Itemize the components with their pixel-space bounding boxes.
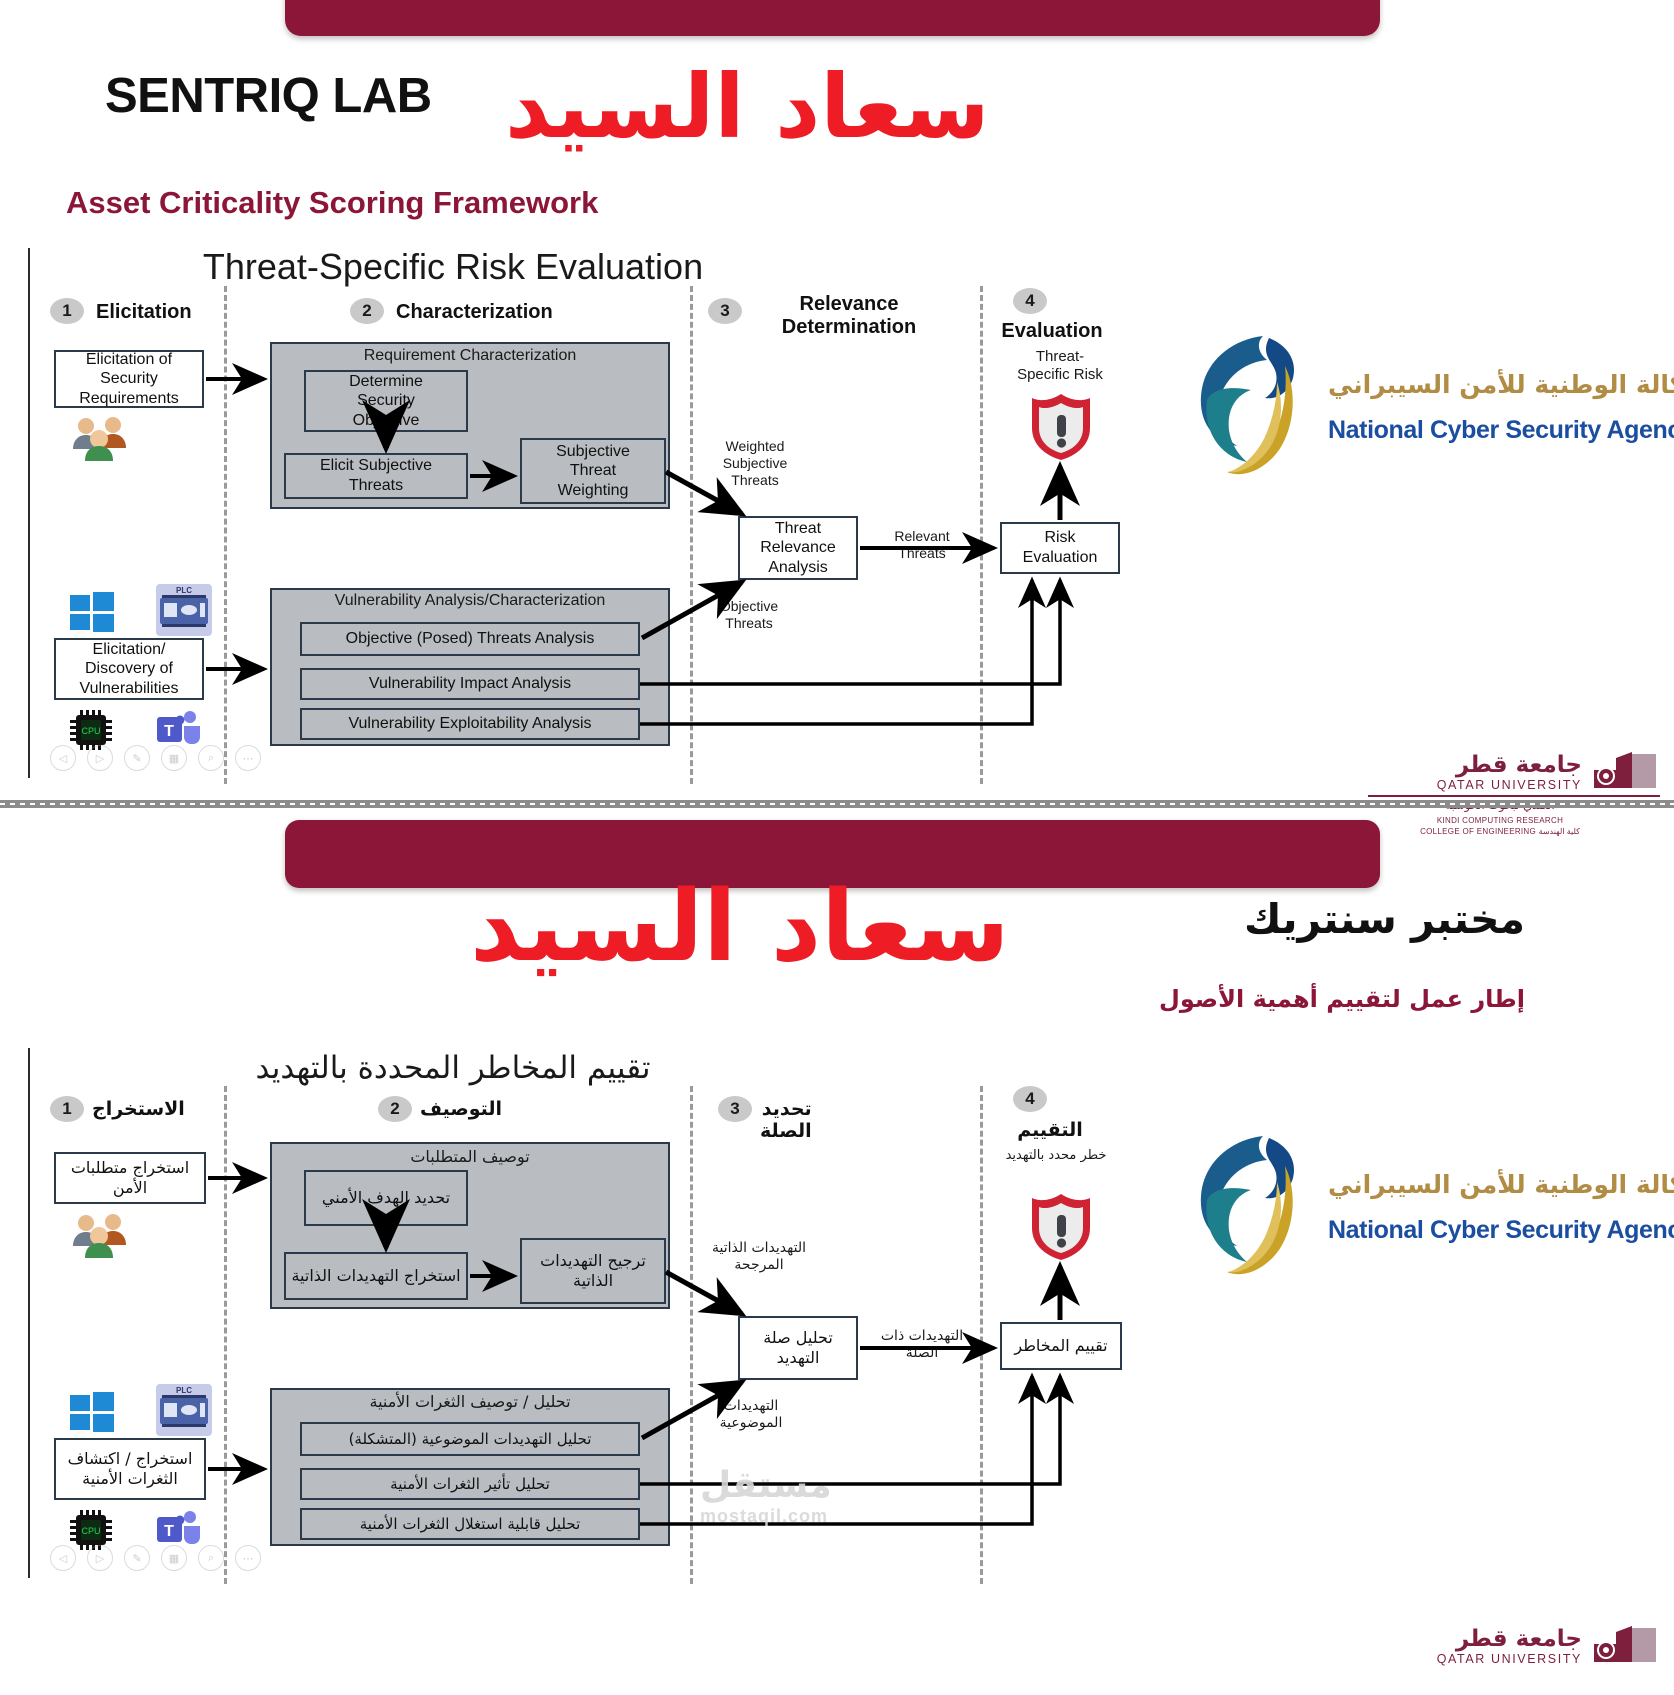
diagram-title-en: Threat-Specific Risk Evaluation (0, 246, 1048, 288)
stage-number-ar-2: 2 (378, 1096, 412, 1122)
edge-label-ar-relevant-threats: التهديدات ذات الصلة (874, 1328, 970, 1362)
ncsa-english-name-bottom: National Cyber Security Agency (1328, 1216, 1674, 1245)
play-icon[interactable]: ▷ (87, 745, 113, 771)
box-determine-security-objective[interactable]: Determine Security Objective (304, 370, 468, 432)
box-ar-objective-posed-threats-analysis[interactable]: تحليل التهديدات الموضوعية (المتشكلة) (300, 1422, 640, 1456)
top-banner (285, 0, 1380, 36)
group-title-requirement-characterization: Requirement Characterization (270, 347, 670, 365)
qu-arabic-name: جامعة قطر (1456, 752, 1582, 778)
slide-playbar[interactable]: ◁ ▷ ✎ ▦ ⌕ ⋯ (50, 745, 261, 771)
box-ar-determine-security-objective[interactable]: تحديد الهدف الأمني (304, 1170, 468, 1226)
play-icon-ar[interactable]: ▷ (87, 1545, 113, 1571)
edge-label-ar-objective-threats: التهديدات الموضوعية (696, 1398, 806, 1432)
qu-divider (1368, 795, 1660, 797)
qatar-university-logo-top: جامعة قطر QATAR UNIVERSITY الكندي لبحوث … (1340, 748, 1660, 824)
ncsa-arabic-name: الوكالة الوطنية للأمن السيبراني (1328, 370, 1674, 399)
box-ar-subjective-threat-weighting[interactable]: ترجيح التهديدات الذاتية (520, 1238, 666, 1304)
ncsa-falcon-icon-bottom (1185, 1130, 1315, 1280)
column-separator-ar-1 (224, 1086, 227, 1584)
box-ar-threat-relevance-analysis[interactable]: تحليل صلة التهديد (738, 1316, 858, 1380)
svg-text:T: T (164, 1523, 174, 1540)
bottom-banner (285, 820, 1380, 888)
column-separator-1 (224, 286, 227, 784)
risk-shield-icon (1028, 392, 1094, 467)
diagram-title-ar: تقييم المخاطر المحددة بالتهديد (0, 1050, 1048, 1086)
framework-title-en: Asset Criticality Scoring Framework (66, 185, 598, 221)
plc-icon-ar: PLC (156, 1384, 212, 1436)
stage-number-2: 2 (350, 298, 384, 324)
stage-number-4: 4 (1013, 288, 1047, 314)
windows-icon (70, 592, 114, 632)
qu-sub-college-engineering: COLLEGE OF ENGINEERING كلية الهندسة (1340, 827, 1660, 836)
windows-icon-ar (70, 1392, 114, 1432)
box-ar-risk-evaluation[interactable]: تقييم المخاطر (1000, 1322, 1122, 1370)
box-subjective-threat-weighting[interactable]: Subjective Threat Weighting (520, 438, 666, 504)
zoom-icon-ar[interactable]: ⌕ (198, 1545, 224, 1571)
group-title-vulnerability-analysis: Vulnerability Analysis/Characterization (270, 592, 670, 610)
stage-number-ar-4: 4 (1013, 1086, 1047, 1112)
qatar-university-logo-bottom: جامعة قطر QATAR UNIVERSITY (1340, 1622, 1660, 1695)
column-separator-ar-2 (690, 1086, 693, 1584)
people-icon (68, 415, 140, 466)
qu-english-name: QATAR UNIVERSITY (1437, 778, 1582, 792)
box-risk-evaluation[interactable]: Risk Evaluation (1000, 522, 1120, 574)
stage-label-3: Relevance Determination (754, 293, 944, 339)
stage-number-3: 3 (708, 298, 742, 324)
stage-label-4: Evaluation (987, 320, 1117, 343)
box-objective-posed-threats-analysis[interactable]: Objective (Posed) Threats Analysis (300, 622, 640, 656)
box-vulnerability-exploitability-analysis[interactable]: Vulnerability Exploitability Analysis (300, 708, 640, 740)
box-ar-elicit-subjective-threats[interactable]: استخراج التهديدات الذاتية (284, 1252, 468, 1300)
designer-watermark-top: سعاد السيد (505, 55, 990, 158)
stage-number-1: 1 (50, 298, 84, 324)
people-icon-ar (68, 1212, 140, 1263)
qu-arabic-name-bottom: جامعة قطر (1456, 1626, 1582, 1652)
ncsa-logo-top: الوكالة الوطنية للأمن السيبراني National… (1185, 330, 1655, 480)
slide-playbar-ar[interactable]: ◁ ▷ ✎ ▦ ⌕ ⋯ (50, 1545, 261, 1571)
box-ar-vulnerability-impact-analysis[interactable]: تحليل تأثير الثغرات الأمنية (300, 1468, 640, 1500)
group-title-ar-vulnerability-analysis: تحليل / توصيف الثغرات الأمنية (270, 1392, 670, 1411)
box-ar-elicitation-discovery-vulnerabilities[interactable]: استخراج / اكتشاف الثغرات الأمنية (54, 1438, 206, 1500)
box-elicitation-security-requirements[interactable]: Elicitation of Security Requirements (54, 350, 204, 408)
panel-left-border (28, 248, 30, 778)
box-vulnerability-impact-analysis[interactable]: Vulnerability Impact Analysis (300, 668, 640, 700)
edge-label-objective-threats: Objective Threats (696, 598, 802, 632)
plc-icon-label: PLC (156, 586, 212, 595)
slide-separator-dots (0, 803, 1674, 805)
ncsa-arabic-name-bottom: الوكالة الوطنية للأمن السيبراني (1328, 1170, 1674, 1199)
result-caption-ar-threat-specific-risk: خطر محدد بالتهديد (996, 1148, 1116, 1164)
stage-label-2: Characterization (396, 301, 553, 324)
edge-label-weighted-subjective-threats: Weighted Subjective Threats (700, 438, 810, 488)
more-icon[interactable]: ⋯ (235, 745, 261, 771)
edge-label-ar-weighted-subjective-threats: التهديدات الذاتية المرجحة (700, 1240, 818, 1274)
risk-shield-icon-ar (1028, 1192, 1094, 1267)
prev-icon[interactable]: ◁ (50, 745, 76, 771)
lab-name-en: SENTRIQ LAB (105, 68, 432, 124)
box-threat-relevance-analysis[interactable]: Threat Relevance Analysis (738, 516, 858, 580)
panel-left-border-ar (28, 1048, 30, 1578)
ncsa-logo-bottom: الوكالة الوطنية للأمن السيبراني National… (1185, 1130, 1655, 1280)
lab-name-ar: مختبر سنتريك (1175, 895, 1525, 943)
framework-title-ar: إطار عمل لتقييم أهمية الأصول (1085, 985, 1525, 1013)
box-elicitation-discovery-vulnerabilities[interactable]: Elicitation/ Discovery of Vulnerabilitie… (54, 638, 204, 700)
box-elicit-subjective-threats[interactable]: Elicit Subjective Threats (284, 453, 468, 499)
stage-label-ar-2: التوصيف (420, 1099, 502, 1121)
stage-label-1: Elicitation (96, 301, 192, 324)
slides-icon-ar[interactable]: ▦ (161, 1545, 187, 1571)
slide-arabic: تقييم المخاطر المحددة بالتهديد 1 الاستخر… (28, 1040, 1218, 1585)
stage-label-ar-1: الاستخراج (92, 1099, 185, 1121)
plc-icon-label-ar: PLC (156, 1386, 212, 1395)
edge-label-relevant-threats: Relevant Threats (874, 528, 970, 562)
result-caption-threat-specific-risk: Threat- Specific Risk (1000, 348, 1120, 384)
box-ar-elicitation-security-requirements[interactable]: استخراج متطلبات الأمن (54, 1152, 206, 1204)
zoom-icon[interactable]: ⌕ (198, 745, 224, 771)
prev-icon-ar[interactable]: ◁ (50, 1545, 76, 1571)
pen-icon[interactable]: ✎ (124, 745, 150, 771)
stage-number-ar-1: 1 (50, 1096, 84, 1122)
qu-emblem-icon-bottom (1592, 1624, 1658, 1668)
qu-emblem-icon (1592, 750, 1658, 794)
stage-label-ar-4: التقييم (985, 1120, 1115, 1142)
site-watermark-latin: mostaqil.com (700, 1506, 832, 1527)
slides-icon[interactable]: ▦ (161, 745, 187, 771)
stage-label-ar-3: تحديد الصلة (760, 1099, 812, 1143)
svg-text:CPU: CPU (81, 726, 100, 736)
pen-icon-ar[interactable]: ✎ (124, 1545, 150, 1571)
site-watermark-arabic: مستقل (700, 1465, 832, 1506)
ncsa-falcon-icon (1185, 330, 1315, 480)
ncsa-english-name: National Cyber Security Agency (1328, 416, 1674, 445)
stage-number-ar-3: 3 (718, 1096, 752, 1122)
slide-english: Threat-Specific Risk Evaluation 1 Elicit… (28, 240, 1218, 785)
box-ar-vulnerability-exploitability-analysis[interactable]: تحليل قابلية استغلال الثغرات الأمنية (300, 1508, 640, 1540)
column-separator-3 (980, 286, 983, 784)
svg-text:T: T (164, 723, 174, 740)
qu-english-name-bottom: QATAR UNIVERSITY (1437, 1652, 1582, 1666)
site-watermark: مستقل mostaqil.com (700, 1465, 832, 1527)
group-title-ar-requirement-characterization: توصيف المتطلبات (270, 1147, 670, 1166)
plc-icon: PLC (156, 584, 212, 636)
svg-text:CPU: CPU (81, 1526, 100, 1536)
column-separator-2 (690, 286, 693, 784)
more-icon-ar[interactable]: ⋯ (235, 1545, 261, 1571)
column-separator-ar-3 (980, 1086, 983, 1584)
qu-sub-english-kindi: KINDI COMPUTING RESEARCH (1340, 816, 1660, 825)
